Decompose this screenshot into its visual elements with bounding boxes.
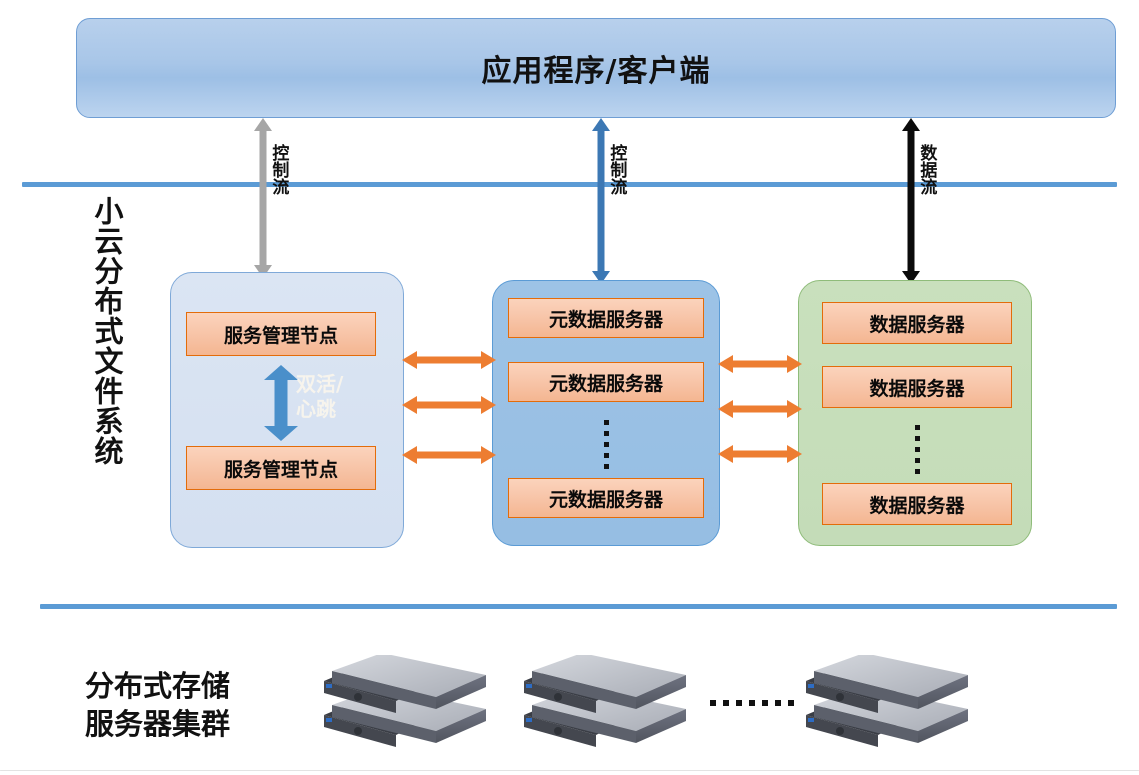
upper-boundary-divider — [22, 182, 1117, 187]
arrow-head-right-icon — [787, 400, 802, 418]
service-management-node-1[interactable]: 服务管理节点 — [186, 312, 376, 356]
control-flow-middle-label: 控制流 — [607, 144, 624, 195]
arrow-shaft — [415, 452, 483, 459]
diagram-canvas: 应用程序/客户端 控制流 控制流 数据流 小云分布式文件系统 服务管理节点 服务… — [0, 0, 1139, 775]
server-cluster-ellipsis-icon — [710, 700, 794, 706]
arrow-head-right-icon — [787, 445, 802, 463]
arrow-head-right-icon — [787, 355, 802, 373]
arrow-shaft — [415, 357, 483, 364]
data-server-ellipsis-icon — [907, 425, 927, 474]
arrow-head-down-icon — [264, 426, 298, 441]
data-server-2[interactable]: 数据服务器 — [822, 366, 1012, 408]
metadata-server-2[interactable]: 元数据服务器 — [508, 362, 704, 402]
bottom-hairline — [0, 770, 1139, 771]
lower-boundary-divider — [40, 604, 1117, 609]
connector-arrow-left-mid-1 — [402, 351, 496, 369]
control-flow-arrow-middle: 控制流 — [588, 118, 614, 284]
connector-arrow-left-mid-3 — [402, 446, 496, 464]
cluster-label-line-2: 服务器集群 — [85, 706, 305, 744]
data-server-3[interactable]: 数据服务器 — [822, 483, 1012, 525]
connector-arrow-mid-right-3 — [718, 445, 802, 463]
storage-cluster-label: 分布式存储 服务器集群 — [85, 668, 305, 743]
data-server-1[interactable]: 数据服务器 — [822, 302, 1012, 344]
arrow-shaft — [415, 402, 483, 409]
application-client-banner: 应用程序/客户端 — [76, 18, 1116, 118]
arrow-shaft — [908, 129, 915, 273]
server-stack-3 — [800, 655, 980, 759]
server-stack-icon — [800, 655, 980, 755]
arrow-shaft — [275, 378, 288, 428]
connector-arrow-mid-right-1 — [718, 355, 802, 373]
data-flow-right-label: 数据流 — [917, 144, 934, 195]
arrow-shaft — [731, 451, 789, 458]
banner-title: 应用程序/客户端 — [482, 46, 711, 90]
server-stack-icon — [518, 655, 698, 755]
control-flow-arrow-left: 控制流 — [250, 118, 276, 278]
arrow-shaft — [260, 129, 267, 267]
arrow-head-right-icon — [481, 396, 496, 414]
cluster-label-line-1: 分布式存储 — [85, 668, 305, 706]
control-flow-left-label: 控制流 — [269, 144, 286, 195]
metadata-server-1[interactable]: 元数据服务器 — [508, 298, 704, 338]
connector-arrow-left-mid-2 — [402, 396, 496, 414]
data-flow-arrow-right: 数据流 — [898, 118, 924, 284]
server-stack-1 — [318, 655, 498, 759]
arrow-shaft — [731, 361, 789, 368]
arrow-shaft — [598, 129, 605, 273]
connector-arrow-mid-right-2 — [718, 400, 802, 418]
arrow-head-right-icon — [481, 446, 496, 464]
metadata-server-3[interactable]: 元数据服务器 — [508, 478, 704, 518]
ha-heartbeat-arrow — [264, 365, 298, 441]
server-stack-2 — [518, 655, 698, 759]
system-name-label: 小云分布式文件系统 — [62, 196, 122, 466]
service-management-node-2[interactable]: 服务管理节点 — [186, 446, 376, 490]
metadata-server-ellipsis-icon — [596, 420, 616, 469]
arrow-shaft — [731, 406, 789, 413]
arrow-head-right-icon — [481, 351, 496, 369]
server-stack-icon — [318, 655, 498, 755]
